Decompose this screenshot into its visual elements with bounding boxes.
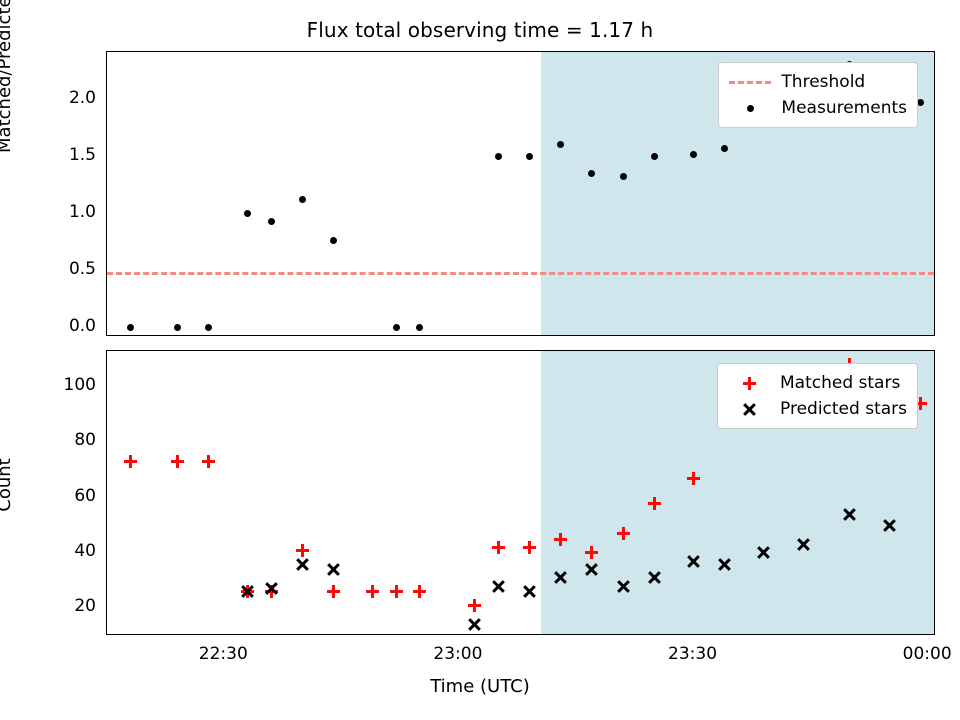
legend-label-matched-stars: Matched stars	[772, 373, 900, 393]
measurement-point	[127, 324, 134, 331]
predicted-star-point	[756, 545, 771, 560]
matched-star-point	[365, 584, 380, 599]
bottom-yaxis-title: Count	[0, 410, 15, 560]
matched-star-point	[170, 454, 185, 469]
bottom-axes-panel: Matched stars Predicted stars	[106, 350, 935, 635]
matched-star-point	[491, 540, 506, 555]
ytick-mark	[106, 328, 107, 330]
matched-star-point	[123, 454, 138, 469]
ytick-label: 60	[40, 486, 96, 506]
legend-row-matched-stars: Matched stars	[726, 370, 907, 396]
predicted-star-point	[842, 507, 857, 522]
top-legend[interactable]: Threshold Measurements	[718, 62, 918, 128]
matplotlib-figure: Flux total observing time = 1.17 h Thres…	[0, 0, 960, 720]
xtick-label: 00:00	[887, 644, 960, 664]
matched-star-point	[686, 471, 701, 486]
predicted-star-point	[686, 554, 701, 569]
top-yaxis-title: Matched/Predicted stars	[0, 0, 15, 194]
ytick-mark	[106, 271, 107, 273]
matched-star-point	[412, 584, 427, 599]
measurement-point	[330, 237, 337, 244]
dot-marker-key-icon	[727, 98, 773, 118]
measurement-point	[620, 173, 627, 180]
predicted-star-point	[326, 562, 341, 577]
matched-star-point	[201, 454, 216, 469]
predicted-star-point	[467, 617, 482, 632]
legend-label-threshold: Threshold	[773, 72, 865, 92]
matched-star-point	[584, 545, 599, 560]
matched-star-point	[522, 540, 537, 555]
xtick-label: 23:00	[418, 644, 498, 664]
predicted-star-point	[647, 570, 662, 585]
matched-star-point	[616, 526, 631, 541]
measurement-point	[495, 153, 502, 160]
ytick-label: 2.0	[40, 88, 96, 108]
matched-star-point	[467, 598, 482, 613]
figure-title: Flux total observing time = 1.17 h	[0, 18, 960, 42]
ytick-mark	[106, 157, 107, 159]
ytick-label: 1.0	[40, 202, 96, 222]
ytick-mark	[106, 100, 107, 102]
cross-marker-key-icon	[726, 399, 772, 419]
top-axes-panel: Threshold Measurements	[106, 51, 935, 336]
predicted-star-point	[584, 562, 599, 577]
predicted-star-point	[240, 584, 255, 599]
ytick-mark	[106, 387, 107, 389]
legend-row-measurements: Measurements	[727, 95, 907, 121]
predicted-star-point	[616, 579, 631, 594]
ytick-mark	[106, 498, 107, 500]
predicted-star-point	[491, 579, 506, 594]
predicted-star-point	[522, 584, 537, 599]
measurement-point	[299, 196, 306, 203]
matched-star-point	[326, 584, 341, 599]
predicted-star-point	[796, 537, 811, 552]
measurement-point	[557, 141, 564, 148]
measurement-point	[393, 324, 400, 331]
xaxis-title: Time (UTC)	[0, 676, 960, 697]
ytick-label: 80	[40, 430, 96, 450]
matched-star-point	[295, 543, 310, 558]
legend-row-predicted-stars: Predicted stars	[726, 396, 907, 422]
ytick-mark	[106, 553, 107, 555]
ytick-mark	[106, 214, 107, 216]
predicted-star-point	[882, 518, 897, 533]
threshold-line	[107, 272, 934, 275]
ytick-mark	[106, 442, 107, 444]
legend-row-threshold: Threshold	[727, 69, 907, 95]
ytick-label: 0.0	[40, 316, 96, 336]
ytick-label: 40	[40, 541, 96, 561]
predicted-star-point	[295, 557, 310, 572]
matched-star-point	[647, 496, 662, 511]
measurement-point	[416, 324, 423, 331]
plus-marker-key-icon	[726, 373, 772, 393]
predicted-star-point	[553, 570, 568, 585]
ytick-label: 1.5	[40, 145, 96, 165]
matched-star-point	[553, 532, 568, 547]
matched-star-point	[389, 584, 404, 599]
bottom-legend[interactable]: Matched stars Predicted stars	[717, 363, 918, 429]
ytick-label: 20	[40, 596, 96, 616]
ytick-label: 100	[40, 375, 96, 395]
predicted-star-point	[717, 557, 732, 572]
ytick-label: 0.5	[40, 259, 96, 279]
measurement-point	[205, 324, 212, 331]
measurement-point	[174, 324, 181, 331]
xtick-label: 22:30	[183, 644, 263, 664]
ytick-mark	[106, 608, 107, 610]
predicted-star-point	[264, 581, 279, 596]
legend-label-measurements: Measurements	[773, 98, 907, 118]
dashed-line-key-icon	[727, 72, 773, 92]
measurement-point	[268, 218, 275, 225]
xtick-label: 23:30	[653, 644, 733, 664]
legend-label-predicted-stars: Predicted stars	[772, 399, 907, 419]
measurement-point	[244, 210, 251, 217]
measurement-point	[526, 153, 533, 160]
